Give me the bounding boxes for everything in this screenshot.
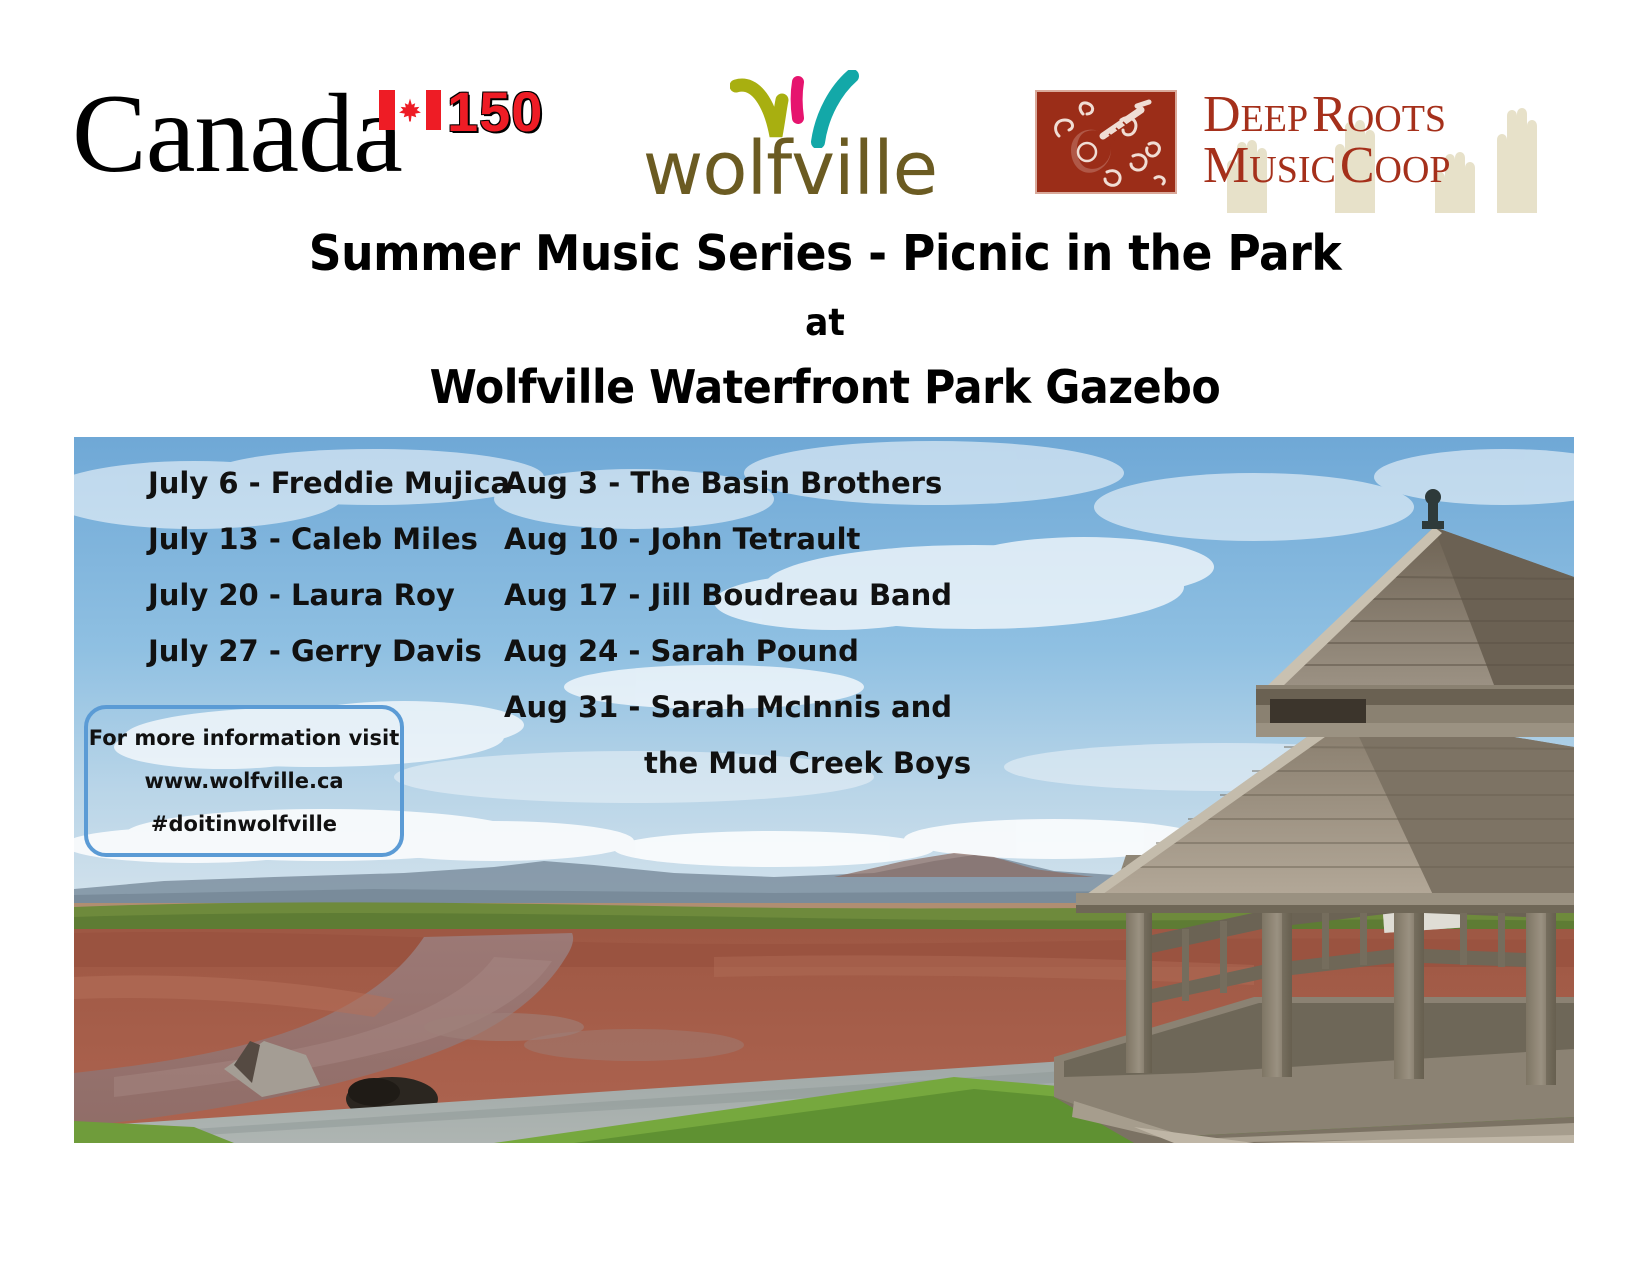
guitar-swirl-icon bbox=[1037, 92, 1175, 192]
schedule-overlay: July 6 - Freddie Mujica July 13 - Caleb … bbox=[74, 437, 1574, 1143]
poster-titles: Summer Music Series - Picnic in the Park… bbox=[0, 228, 1650, 412]
wolfville-wordmark: wolfville bbox=[640, 132, 940, 206]
canada-150-logo: Canada 150 bbox=[72, 78, 542, 198]
schedule-item: Aug 17 - Jill Boudreau Band bbox=[504, 581, 971, 610]
maple-leaf-icon bbox=[397, 96, 423, 124]
schedule-item-continuation: the Mud Creek Boys bbox=[644, 749, 971, 778]
deep-roots-logo: DEEP ROOTS MUSIC COOP bbox=[1035, 88, 1565, 213]
hashtag[interactable]: #doitinwolfville bbox=[151, 814, 337, 835]
website-url[interactable]: www.wolfville.ca bbox=[144, 771, 343, 792]
more-information-box: For more information visit www.wolfville… bbox=[84, 705, 404, 857]
canada-150-number: 150 bbox=[447, 84, 543, 140]
canada-flag-icon bbox=[379, 90, 441, 130]
schedule-item: July 20 - Laura Roy bbox=[148, 581, 510, 610]
wolfville-logo: wolfville bbox=[640, 70, 940, 210]
deep-roots-line2: MUSIC COOP bbox=[1203, 141, 1563, 192]
schedule-item: Aug 10 - John Tetrault bbox=[504, 525, 971, 554]
schedule-item: Aug 24 - Sarah Pound bbox=[504, 637, 971, 666]
logo-band: Canada 150 wolfville bbox=[0, 0, 1650, 225]
august-schedule-column: Aug 3 - The Basin Brothers Aug 10 - John… bbox=[504, 469, 971, 805]
canada-wordmark: Canada bbox=[72, 78, 402, 190]
deep-roots-line1: DEEP ROOTS bbox=[1203, 90, 1563, 141]
page-title: Summer Music Series - Picnic in the Park bbox=[58, 228, 1593, 281]
schedule-item: July 6 - Freddie Mujica bbox=[148, 469, 510, 498]
schedule-item: July 13 - Caleb Miles bbox=[148, 525, 510, 554]
venue-title: Wolfville Waterfront Park Gazebo bbox=[58, 362, 1593, 413]
poster: Canada 150 wolfville bbox=[0, 0, 1650, 1275]
guitar-mark-icon bbox=[1035, 90, 1177, 194]
info-line-1: For more information visit bbox=[89, 728, 399, 749]
schedule-item: Aug 31 - Sarah McInnis and bbox=[504, 693, 971, 722]
waterfront-park-photo: July 6 - Freddie Mujica July 13 - Caleb … bbox=[74, 437, 1574, 1143]
schedule-item: July 27 - Gerry Davis bbox=[148, 637, 510, 666]
july-schedule-column: July 6 - Freddie Mujica July 13 - Caleb … bbox=[148, 469, 510, 693]
title-connector: at bbox=[58, 303, 1593, 344]
schedule-item: Aug 3 - The Basin Brothers bbox=[504, 469, 971, 498]
deep-roots-wordmark: DEEP ROOTS MUSIC COOP bbox=[1203, 90, 1563, 192]
